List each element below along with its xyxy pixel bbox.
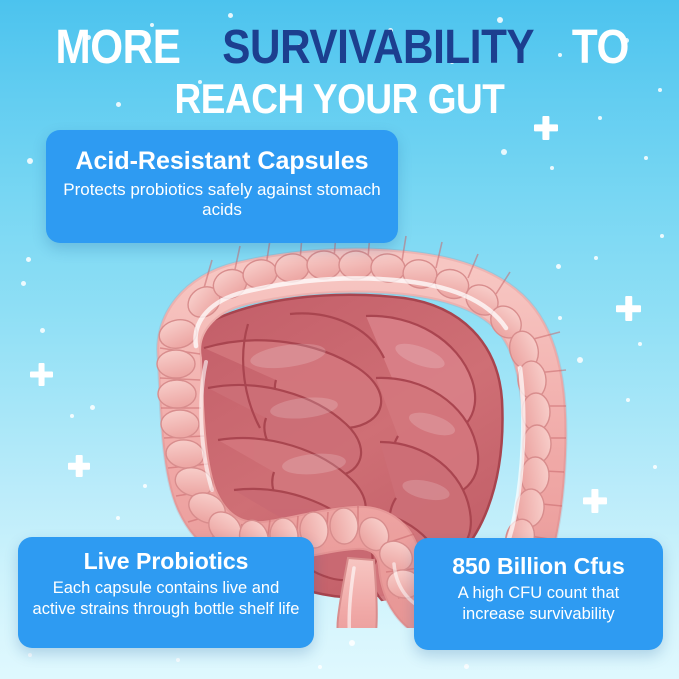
headline-word-survivability: SURVIVABILITY <box>222 24 534 71</box>
card-live-body: Each capsule contains live and active st… <box>32 578 300 618</box>
sparkle-dot-icon <box>644 156 648 160</box>
card-live-probiotics[interactable]: Live Probiotics Each capsule contains li… <box>18 537 314 648</box>
sparkle-dot-icon <box>27 158 33 164</box>
sparkle-dot-icon <box>464 664 469 669</box>
sparkle-dot-icon <box>228 13 233 18</box>
card-cfu-title: 850 Billion Cfus <box>428 553 649 579</box>
headline-line-1: MORE SURVIVABILITY TO <box>0 24 679 71</box>
sparkle-dot-icon <box>349 640 355 646</box>
card-acid-title: Acid-Resistant Capsules <box>60 147 384 176</box>
headline-line-2: REACH YOUR GUT <box>0 78 679 120</box>
plus-icon <box>583 489 607 513</box>
sparkle-dot-icon <box>594 256 598 260</box>
card-live-title: Live Probiotics <box>32 548 300 574</box>
sparkle-dot-icon <box>70 414 74 418</box>
sparkle-dot-icon <box>90 405 95 410</box>
card-acid-resistant-capsules[interactable]: Acid-Resistant Capsules Protects probiot… <box>46 130 398 243</box>
sparkle-dot-icon <box>28 653 32 657</box>
sparkle-dot-icon <box>638 342 642 346</box>
plus-icon <box>616 296 641 321</box>
sparkle-dot-icon <box>653 465 657 469</box>
card-acid-body: Protects probiotics safely against stoma… <box>60 180 384 221</box>
sparkle-dot-icon <box>501 149 507 155</box>
card-cfu-count[interactable]: 850 Billion Cfus A high CFU count that i… <box>414 538 663 650</box>
sparkle-dot-icon <box>26 257 31 262</box>
infographic-canvas: MORE SURVIVABILITY TO REACH YOUR GUT <box>0 0 679 679</box>
headline-word-more: MORE <box>55 24 180 71</box>
headline-word-to: TO <box>571 24 628 71</box>
plus-icon <box>68 455 90 477</box>
card-cfu-body: A high CFU count that increase survivabi… <box>428 583 649 623</box>
headline-word-reach-your-gut: REACH YOUR GUT <box>175 78 505 119</box>
sparkle-dot-icon <box>626 398 630 402</box>
plus-icon <box>30 363 53 386</box>
sparkle-dot-icon <box>40 328 45 333</box>
sparkle-dot-icon <box>21 281 26 286</box>
sparkle-dot-icon <box>318 665 322 669</box>
sparkle-dot-icon <box>660 234 664 238</box>
sparkle-dot-icon <box>176 658 180 662</box>
sparkle-dot-icon <box>550 166 554 170</box>
